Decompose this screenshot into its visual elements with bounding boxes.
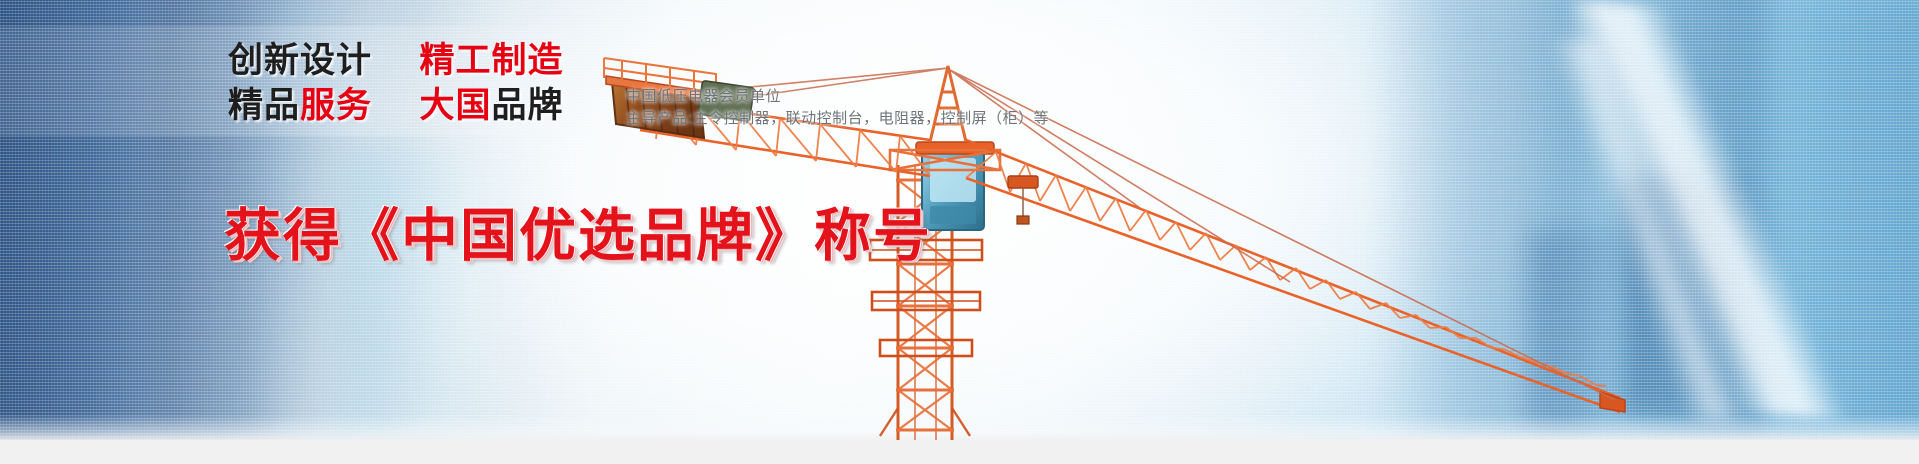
banner-subtext: 中国低压电器会员单位 主导产品:主令控制器，联动控制台，电阻器，控制屏（柜）等 [626, 86, 1049, 130]
page-bottom-strip [0, 440, 1919, 464]
headline-line2-red-text-a: 服务 [300, 86, 372, 125]
headline-line2-dark-text: 精品 [228, 86, 300, 125]
banner-award-slogan: 获得《中国优选品牌》称号 [224, 190, 932, 272]
headline-line1-dark-text: 创新设计 [228, 41, 372, 80]
subtext-line-1: 中国低压电器会员单位 [626, 86, 1049, 108]
headline-line2-dark-text-b: 品牌 [492, 86, 564, 125]
headline-line1-red-text: 精工制造 [419, 41, 563, 80]
headline-line-1: 创新设计 精工制造 [228, 38, 768, 83]
subtext-line-2: 主导产品:主令控制器，联动控制台，电阻器，控制屏（柜）等 [626, 108, 1049, 130]
promo-banner: 创新设计 精工制造 精品服务 大国品牌 中国低压电器会员单位 主导产品:主令控制… [0, 0, 1919, 464]
headline-line2-red-text-b: 大国 [420, 86, 492, 125]
background-spire-2 [1519, 40, 1779, 420]
background-bottom-fade [0, 414, 1919, 440]
